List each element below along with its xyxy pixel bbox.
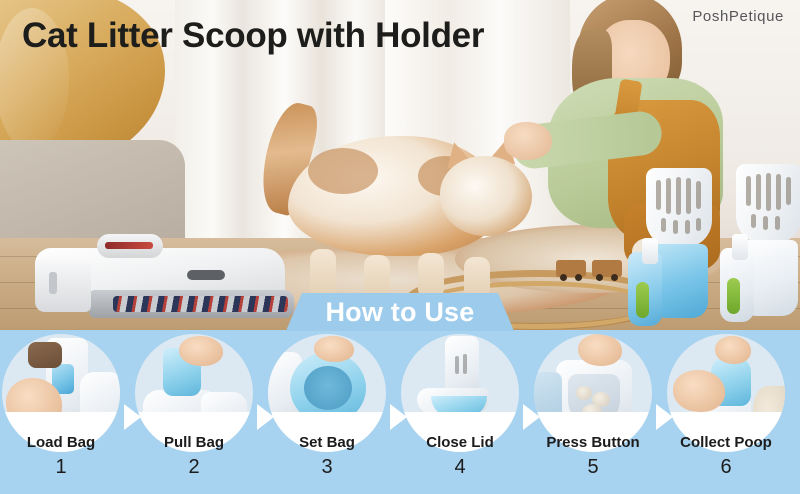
vacuum-brush: [113, 296, 288, 312]
cat-leg: [418, 253, 444, 297]
child-hand: [504, 122, 552, 160]
cat-leg: [310, 249, 336, 297]
product-litter-scoop-white: [722, 164, 800, 316]
vacuum-side-panel: [35, 256, 91, 312]
vacuum-vent: [187, 270, 225, 280]
step-item: Collect Poop 6: [667, 334, 785, 452]
page-title: Cat Litter Scoop with Holder: [22, 16, 484, 56]
step-item: Press Button 5: [534, 334, 652, 452]
step-list: Load Bag 1 Pull Bag 2: [0, 334, 800, 494]
brand-logo: PoshPetique: [692, 8, 784, 25]
scoop-head: [646, 168, 712, 248]
step-label: Close Lid: [395, 434, 525, 451]
step-number: 2: [129, 456, 259, 479]
product-litter-scoop-blue: [628, 168, 720, 318]
robot-vacuum: [35, 234, 300, 320]
how-to-use-title: How to Use: [286, 293, 514, 331]
cat-leg: [364, 255, 390, 297]
holder-clip: [642, 238, 658, 264]
cat-head: [440, 156, 532, 236]
vacuum-lidar: [97, 234, 163, 258]
step-item: Set Bag 3: [268, 334, 386, 452]
step-item: Close Lid 4: [401, 334, 519, 452]
step-item: Pull Bag 2: [135, 334, 253, 452]
step-label: Press Button: [528, 434, 658, 451]
step-label: Pull Bag: [129, 434, 259, 451]
product-infographic: Cat Litter Scoop with Holder PoshPetique…: [0, 0, 800, 494]
holder-clip: [732, 234, 748, 260]
scoop-head: [736, 164, 800, 244]
step-label: Load Bag: [0, 434, 126, 451]
step-number: 5: [528, 456, 658, 479]
cat: [268, 108, 543, 293]
release-button: [636, 282, 649, 318]
release-button: [727, 278, 740, 314]
step-number: 4: [395, 456, 525, 479]
cat-leg: [464, 257, 490, 297]
step-label: Set Bag: [262, 434, 392, 451]
vacuum-side-slot: [49, 272, 57, 294]
step-item: Load Bag 1: [2, 334, 120, 452]
step-number: 1: [0, 456, 126, 479]
step-number: 6: [661, 456, 791, 479]
step-number: 3: [262, 456, 392, 479]
step-label: Collect Poop: [661, 434, 791, 451]
